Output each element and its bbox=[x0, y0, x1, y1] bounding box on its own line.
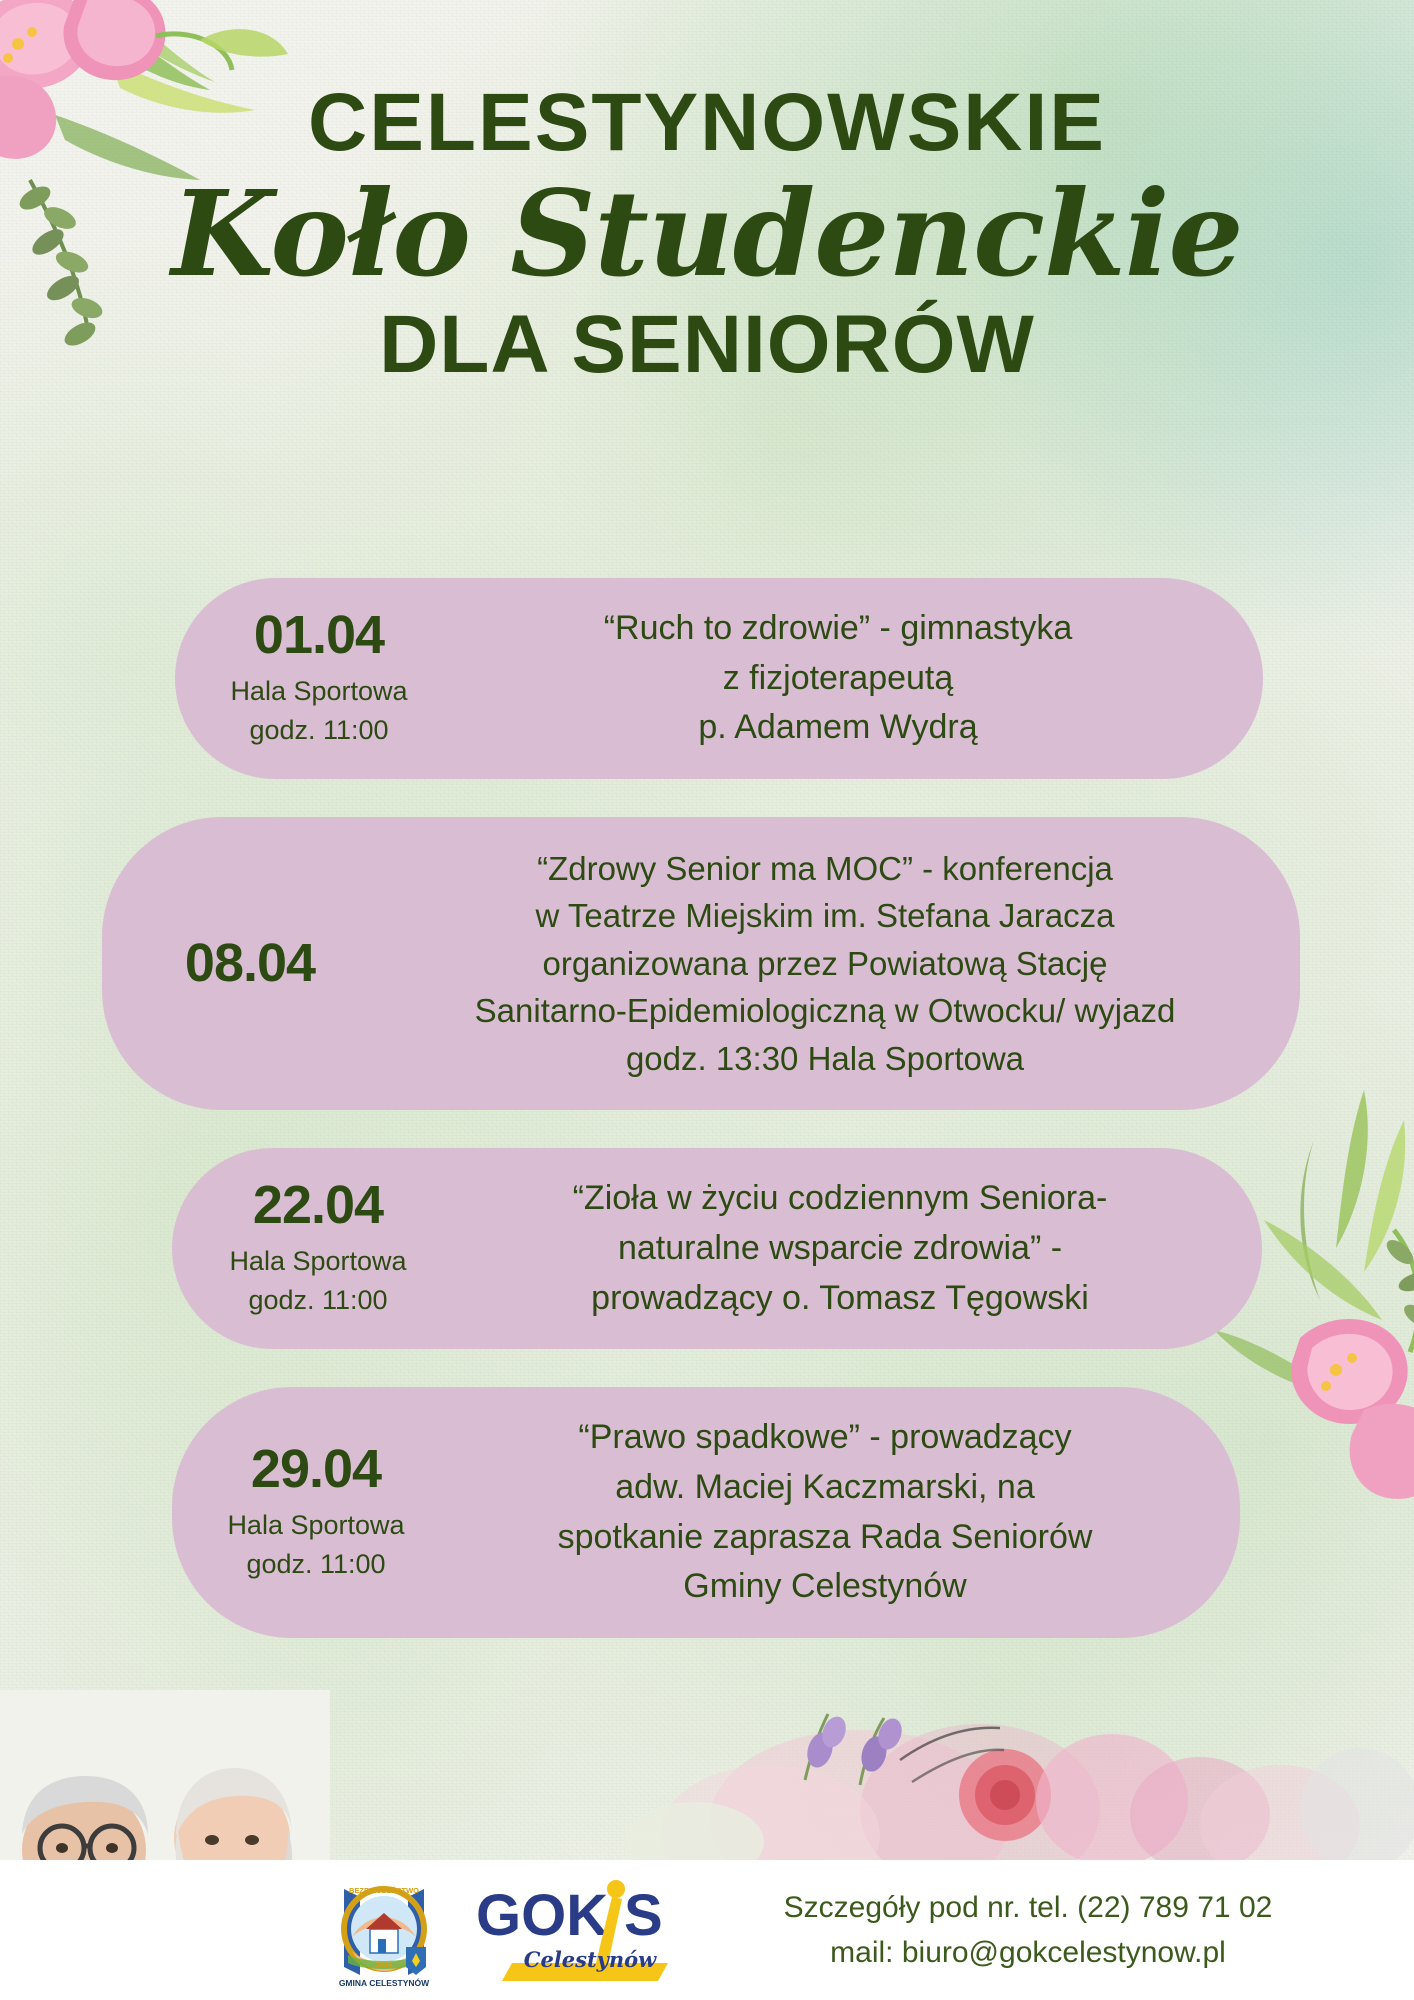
gmina-logo-top-text: BEZPIECZEŃSTWO bbox=[349, 1886, 419, 1895]
event-venue: Hala Sportowa bbox=[200, 1506, 432, 1545]
event-description-line: organizowana przez Powiatową Stację bbox=[388, 940, 1262, 988]
event-venue: Hala Sportowa bbox=[200, 1242, 436, 1281]
event-venue: Hala Sportowa bbox=[203, 672, 435, 711]
event-date-block: 29.04 Hala Sportowa godz. 11:00 bbox=[182, 1441, 450, 1584]
event-date: 08.04 bbox=[130, 935, 370, 992]
event-card: 01.04 Hala Sportowa godz. 11:00 “Ruch to… bbox=[175, 578, 1263, 779]
event-date-block: 08.04 bbox=[112, 935, 388, 992]
event-card: 29.04 Hala Sportowa godz. 11:00 “Prawo s… bbox=[172, 1387, 1240, 1638]
poster-root: CELESTYNOWSKIE Koło Studenckie DLA SENIO… bbox=[0, 0, 1414, 2000]
gokis-logo-subtitle: Celestynów bbox=[524, 1947, 657, 1972]
event-description: “Zdrowy Senior ma MOC” - konferencja w T… bbox=[388, 845, 1262, 1083]
poster-header: CELESTYNOWSKIE Koło Studenckie DLA SENIO… bbox=[0, 82, 1414, 386]
gokis-logo: GOK S Celestynów bbox=[472, 1875, 682, 1985]
event-description-line: Sanitarno-Epidemiologiczną w Otwocku/ wy… bbox=[388, 987, 1262, 1035]
event-description-line: z fizjoterapeutą bbox=[453, 654, 1223, 704]
event-description-line: Gminy Celestynów bbox=[450, 1562, 1200, 1612]
footer-phone-line: Szczegóły pod nr. tel. (22) 789 71 02 bbox=[682, 1885, 1374, 1930]
event-cards-list: 01.04 Hala Sportowa godz. 11:00 “Ruch to… bbox=[0, 578, 1414, 1676]
event-description-line: naturalne wsparcie zdrowia” - bbox=[454, 1224, 1226, 1274]
footer-logos: BEZPIECZEŃSTWO 2026 GMINA CELESTYNÓW GOK… bbox=[330, 1871, 682, 1989]
event-time: godz. 11:00 bbox=[203, 711, 435, 750]
event-date: 01.04 bbox=[203, 607, 435, 664]
footer-email-line: mail: biuro@gokcelestynow.pl bbox=[682, 1930, 1374, 1975]
title-line-dla-seniorow: DLA SENIORÓW bbox=[0, 304, 1414, 386]
event-description-line: “Ruch to zdrowie” - gimnastyka bbox=[453, 604, 1223, 654]
event-description: “Prawo spadkowe” - prowadzący adw. Macie… bbox=[450, 1413, 1200, 1612]
event-description-line: prowadzący o. Tomasz Tęgowski bbox=[454, 1274, 1226, 1324]
event-date: 22.04 bbox=[200, 1177, 436, 1234]
event-description-line: “Zioła w życiu codziennym Seniora- bbox=[454, 1174, 1226, 1224]
footer-bar: BEZPIECZEŃSTWO 2026 GMINA CELESTYNÓW GOK… bbox=[0, 1860, 1414, 2000]
event-description-line: godz. 13:30 Hala Sportowa bbox=[388, 1035, 1262, 1083]
event-time: godz. 11:00 bbox=[200, 1281, 436, 1320]
event-description: “Zioła w życiu codziennym Seniora- natur… bbox=[454, 1174, 1226, 1323]
footer-contact-info: Szczegóły pod nr. tel. (22) 789 71 02 ma… bbox=[682, 1885, 1414, 1975]
event-date: 29.04 bbox=[200, 1441, 432, 1498]
event-description-line: “Zdrowy Senior ma MOC” - konferencja bbox=[388, 845, 1262, 893]
event-description: “Ruch to zdrowie” - gimnastyka z fizjote… bbox=[453, 604, 1223, 753]
gokis-logo-main-text: GOK bbox=[476, 1883, 608, 1948]
event-card: 08.04 “Zdrowy Senior ma MOC” - konferenc… bbox=[102, 817, 1300, 1111]
gmina-celestynow-logo: BEZPIECZEŃSTWO 2026 GMINA CELESTYNÓW bbox=[330, 1871, 438, 1989]
event-description-line: “Prawo spadkowe” - prowadzący bbox=[450, 1413, 1200, 1463]
event-date-block: 22.04 Hala Sportowa godz. 11:00 bbox=[182, 1177, 454, 1320]
event-description-line: spotkanie zaprasza Rada Seniorów bbox=[450, 1513, 1200, 1563]
title-line-celestynowskie: CELESTYNOWSKIE bbox=[0, 82, 1414, 164]
event-time: godz. 11:00 bbox=[200, 1545, 432, 1584]
gmina-logo-caption: GMINA CELESTYNÓW bbox=[339, 1977, 430, 1988]
event-description-line: adw. Maciej Kaczmarski, na bbox=[450, 1463, 1200, 1513]
event-description-line: p. Adamem Wydrą bbox=[453, 703, 1223, 753]
event-card: 22.04 Hala Sportowa godz. 11:00 “Zioła w… bbox=[172, 1148, 1262, 1349]
gokis-logo-s-text: S bbox=[624, 1883, 663, 1948]
event-description-line: w Teatrze Miejskim im. Stefana Jaracza bbox=[388, 892, 1262, 940]
gmina-logo-year: 2026 bbox=[376, 1960, 393, 1969]
title-script-kolo-studenckie: Koło Studenckie bbox=[0, 168, 1414, 300]
event-date-block: 01.04 Hala Sportowa godz. 11:00 bbox=[185, 607, 453, 750]
